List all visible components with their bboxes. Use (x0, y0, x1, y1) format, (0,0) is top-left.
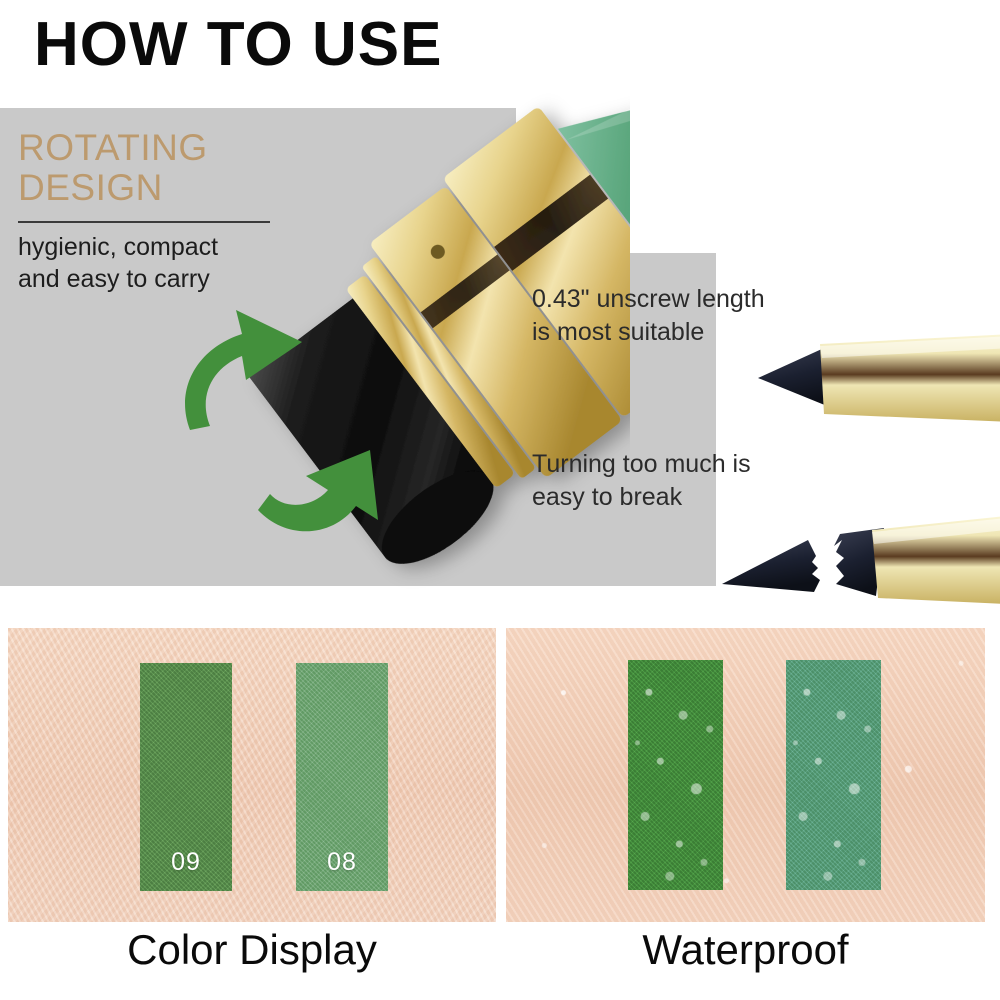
swatch-label-08: 08 (296, 848, 388, 877)
swatch-label-09: 09 (140, 848, 232, 877)
page-title: HOW TO USE (34, 14, 442, 76)
feature-divider (18, 221, 270, 223)
hero-panel-notch (516, 108, 1000, 253)
product-infographic: HOW TO USE ROTATING DESIGN hygienic, com… (0, 0, 1000, 1000)
note-unscrew-line1: 0.43" unscrew length (532, 283, 765, 316)
broken-tip-fragment (722, 540, 820, 592)
note-unscrew-length: 0.43" unscrew length is most suitable (532, 283, 765, 348)
note-unscrew-line2: is most suitable (532, 316, 765, 349)
skin-texture (8, 628, 496, 922)
swatch-waterproof-dark (628, 660, 723, 890)
feature-heading: ROTATING DESIGN (18, 128, 208, 207)
swatch-card-waterproof (506, 628, 985, 922)
feature-heading-line2: DESIGN (18, 168, 208, 208)
caption-color-display: Color Display (8, 928, 496, 972)
water-droplets (786, 660, 881, 890)
swatch-waterproof-light (786, 660, 881, 890)
feature-subtitle-line2: and easy to carry (18, 263, 218, 295)
swatch-08: 08 (296, 663, 388, 891)
swatch-09: 09 (140, 663, 232, 891)
caption-waterproof: Waterproof (506, 928, 985, 972)
wet-skin-texture (506, 628, 985, 922)
swatch-card-color-display: 09 08 (8, 628, 496, 922)
feature-subtitle-line1: hygienic, compact (18, 231, 218, 263)
water-droplets (628, 660, 723, 890)
feature-subtitle: hygienic, compact and easy to carry (18, 231, 218, 295)
feature-heading-line1: ROTATING (18, 128, 208, 168)
broken-pencil-illustration (716, 500, 1000, 616)
note-turning-line1: Turning too much is (532, 448, 751, 481)
intact-pencil-illustration (752, 322, 1000, 432)
